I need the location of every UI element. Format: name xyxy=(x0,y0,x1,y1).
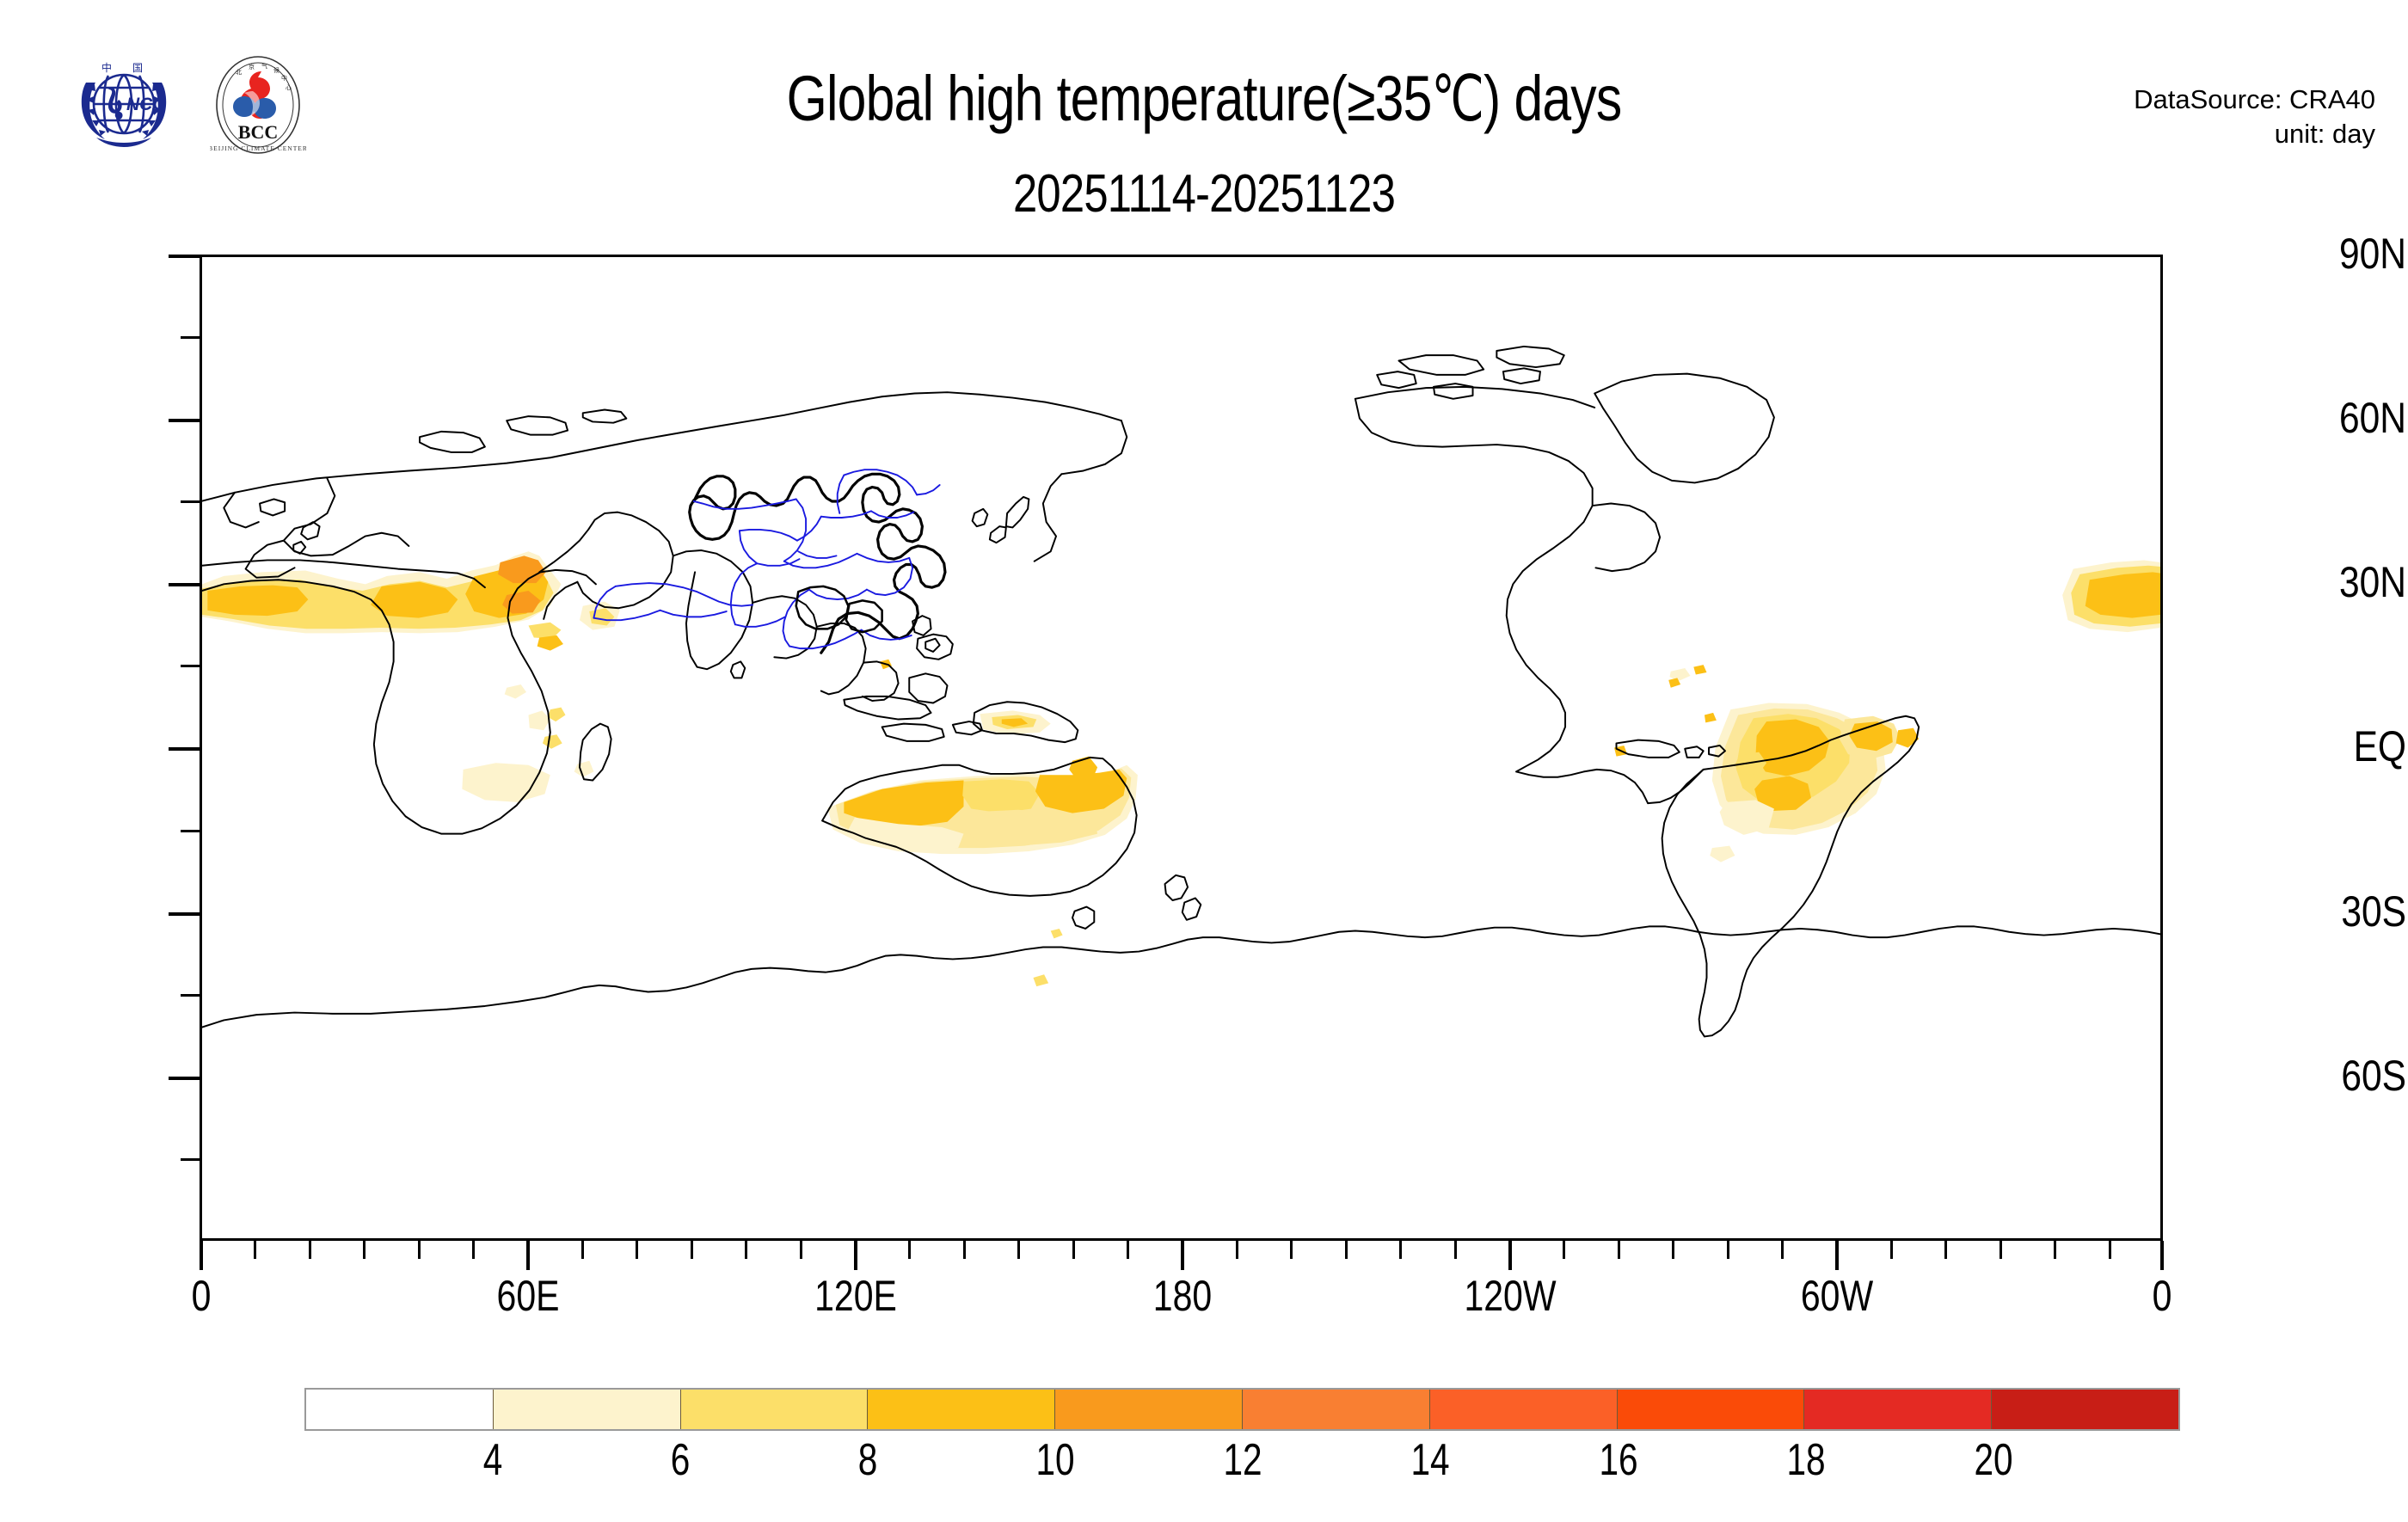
cbtick-8: 8 xyxy=(801,1438,935,1482)
svg-text:中: 中 xyxy=(101,61,112,74)
colorbar-segment-5 xyxy=(1243,1390,1430,1429)
colorbar-segment-3 xyxy=(868,1390,1055,1429)
xtick-60w: 60W xyxy=(1745,1274,1928,1317)
cbtick-18: 18 xyxy=(1739,1438,1873,1482)
xtick-180: 180 xyxy=(1090,1274,1274,1317)
colorbar-segment-7 xyxy=(1618,1390,1805,1429)
colorbar-segment-4 xyxy=(1055,1390,1243,1429)
unit-label: unit: day xyxy=(2134,117,2375,151)
colorbar-segment-0 xyxy=(306,1390,494,1429)
cbtick-10: 10 xyxy=(988,1438,1122,1482)
heat-shading-layer xyxy=(202,551,2160,986)
world-map xyxy=(202,257,2160,1238)
xtick-0-right: 0 xyxy=(2070,1274,2253,1317)
ytick-90n: 90N xyxy=(2253,232,2407,275)
colorbar-segment-2 xyxy=(681,1390,869,1429)
colorbar-segment-8 xyxy=(1804,1390,1992,1429)
colorbar-segment-1 xyxy=(494,1390,681,1429)
ytick-60n: 60N xyxy=(2253,396,2407,439)
map-plot-area xyxy=(200,255,2163,1241)
colorbar[interactable] xyxy=(304,1388,2180,1431)
xtick-120e: 120E xyxy=(764,1274,947,1317)
ytick-30s: 30S xyxy=(2253,890,2407,933)
ytick-30n: 30N xyxy=(2253,561,2407,604)
cbtick-20: 20 xyxy=(1926,1438,2061,1482)
ncc-logo: NCC 中国 xyxy=(67,57,181,153)
datasource-label: DataSource: CRA40 xyxy=(2134,83,2375,117)
ytick-60s: 60S xyxy=(2253,1054,2407,1097)
cbtick-16: 16 xyxy=(1551,1438,1686,1482)
ytick-eq: EQ xyxy=(2253,725,2407,768)
xtick-0-left: 0 xyxy=(109,1274,292,1317)
cbtick-12: 12 xyxy=(1176,1438,1310,1482)
coastline-layer xyxy=(202,347,2160,1037)
page-title: Global high temperature(≥35℃) days xyxy=(217,62,2191,136)
date-range-subtitle: 20251114-20251123 xyxy=(217,163,2191,224)
xtick-60e: 60E xyxy=(436,1274,619,1317)
cbtick-6: 6 xyxy=(613,1438,747,1482)
svg-text:国: 国 xyxy=(132,62,143,74)
colorbar-segment-6 xyxy=(1430,1390,1618,1429)
svg-text:BEIJING CLIMATE CENTER: BEIJING CLIMATE CENTER xyxy=(210,144,306,152)
cbtick-4: 4 xyxy=(426,1438,560,1482)
colorbar-segment-9 xyxy=(1992,1390,2178,1429)
cbtick-14: 14 xyxy=(1363,1438,1497,1482)
meta-block: DataSource: CRA40 unit: day xyxy=(2134,83,2375,152)
xtick-120w: 120W xyxy=(1418,1274,1601,1317)
